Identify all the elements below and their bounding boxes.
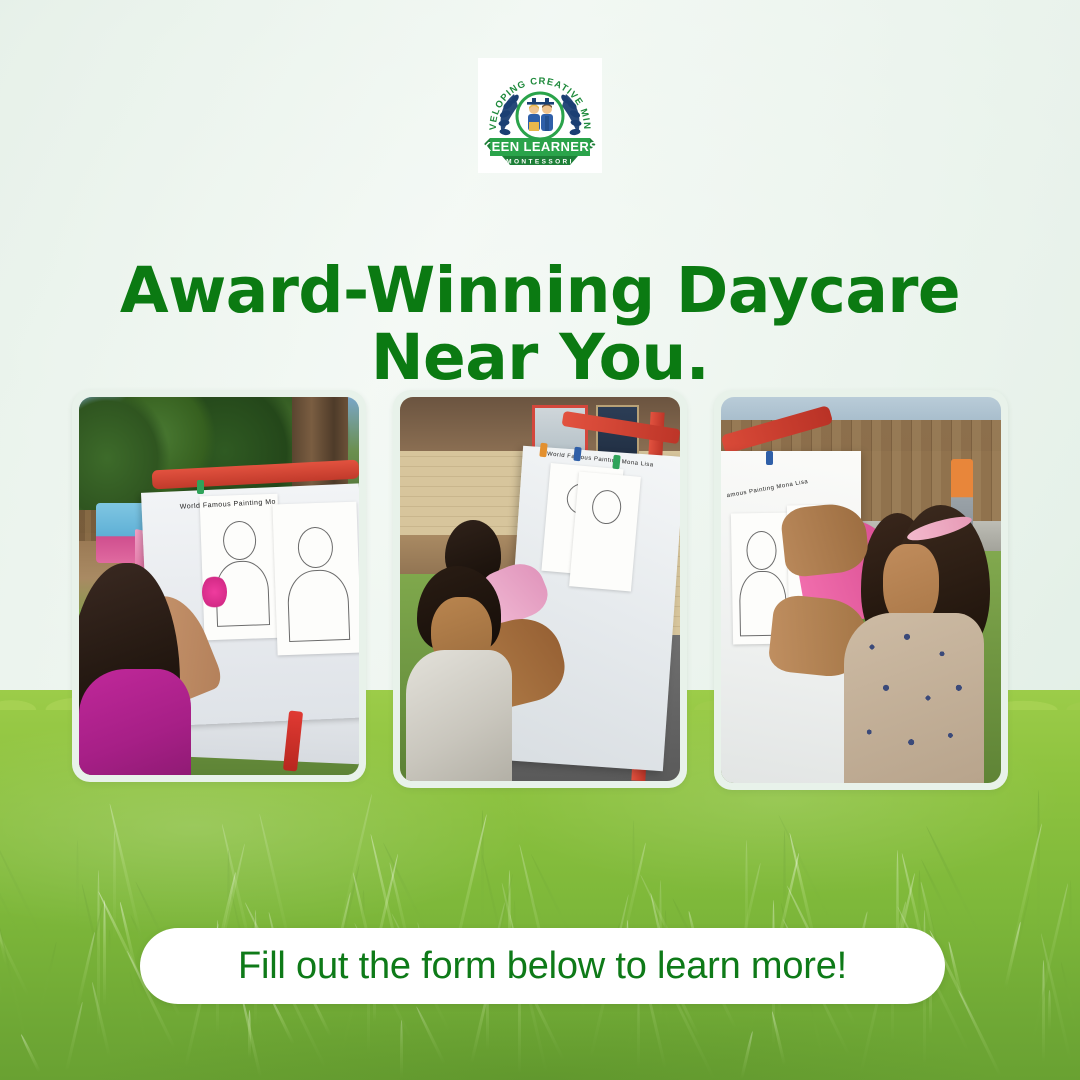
child-leopard-sweater [844, 613, 984, 783]
keen-learners-logo-mark: DEVELOPING CREATIVE MINDS [484, 64, 596, 168]
cta-banner[interactable]: Fill out the form below to learn more! [140, 928, 945, 1004]
photo-two-girls-drawing: amous Painting Mona Lisa [721, 397, 1001, 783]
daycare-promo-poster: DEVELOPING CREATIVE MINDS [0, 0, 1080, 1080]
logo-ribbon-text: KEEN LEARNERS [484, 139, 596, 154]
logo-subtitle-text: MONTESSORI [506, 158, 574, 165]
child-magenta-shirt [79, 669, 191, 775]
logo-ribbon: KEEN LEARNERS [484, 138, 596, 156]
paper-clip-orange [539, 443, 547, 458]
child-grey-shirt [406, 650, 512, 781]
paper-clip-blue [766, 451, 773, 465]
photo-card-2: World Famous Painting Mona Lisa [393, 390, 687, 788]
photo-card-3: amous Painting Mona Lisa [714, 390, 1008, 790]
photo-gallery: World Famous Painting Mo [72, 390, 1008, 790]
coloring-sheet [272, 501, 359, 655]
brand-logo: DEVELOPING CREATIVE MINDS [478, 58, 602, 173]
pink-paint-stroke [202, 575, 227, 609]
page-headline: Award-Winning Daycare Near You. [0, 258, 1080, 392]
photo-girl-painting-mona-lisa: World Famous Painting Mo [79, 397, 359, 775]
photo-card-1: World Famous Painting Mo [72, 390, 366, 782]
coloring-sheet [569, 471, 640, 591]
photo-boy-and-girl-at-easel: World Famous Painting Mona Lisa [400, 397, 680, 781]
cta-label: Fill out the form below to learn more! [238, 945, 847, 988]
paper-clip-blue [573, 447, 581, 462]
paper-clip-green [612, 454, 620, 469]
paper-clip-green [197, 480, 204, 494]
